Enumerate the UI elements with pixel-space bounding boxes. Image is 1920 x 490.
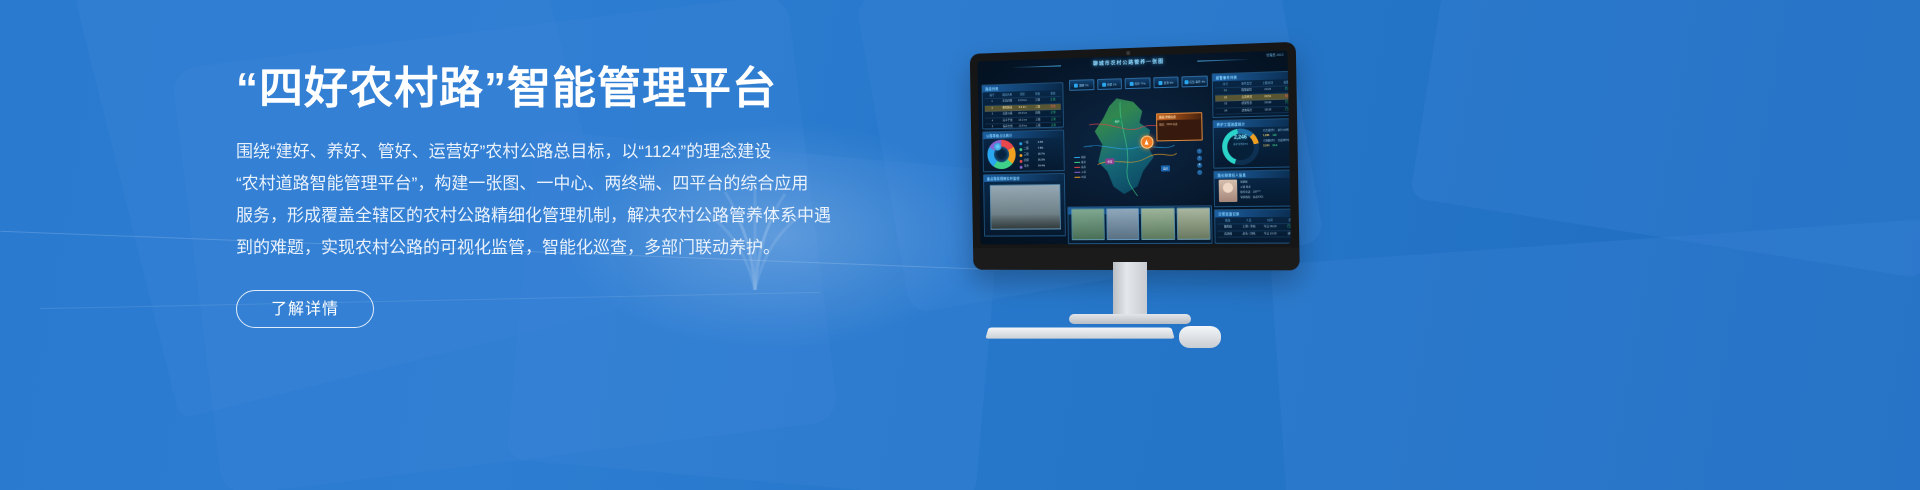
panel-grade-stats: 公路等级占比统计 一级 2.6% 二级 7.8% 三级 [982, 130, 1064, 173]
panel-patrol: 日常巡查记录 路段 人员 时间 结果 聊阳线 王明 / 李响 [1214, 208, 1291, 243]
map-roads [1075, 93, 1179, 199]
map-tools: + ≡ ◉ ↔ [1197, 149, 1208, 178]
learn-more-button[interactable]: 了解详情 [236, 290, 374, 328]
table-row[interactable]: 04 边坡塌方 08:36 已处理 [1215, 106, 1291, 115]
monitor-stand-neck [1113, 262, 1147, 318]
locate-icon[interactable]: ◉ [1197, 163, 1202, 168]
thumbnail[interactable] [1071, 208, 1104, 240]
dashboard-filter-button[interactable]: 桥梁 1% [1097, 78, 1122, 90]
donut-legend: 一级 2.6% 二级 7.8% 三级 18.7% 四级 36.5% [1019, 140, 1045, 170]
panel-title: 重点路段视频实时监控 [984, 174, 1064, 182]
road-list-rows: 编号 路段名称 里程 等级 状态 1 东昌府路 12.6 km 三级 [983, 90, 1064, 132]
avatar [1219, 180, 1238, 203]
mouse [1179, 326, 1221, 348]
description-line: 服务，形成覆盖全辖区的农村公路精细化管理机制，解决农村公路管养体系中遇 [236, 200, 856, 232]
panel-title: 路长制责任人信息 [1214, 170, 1291, 178]
description-line: 到的难题，实现农村公路的可视化监管，智能化巡查，多部门联动养护。 [236, 232, 856, 264]
dashboard-filter-button[interactable]: 巡查 5% [1153, 76, 1179, 88]
panel-alarm-list: 报警事件列表 序号 事件类型 上报时间 处理状态 01 路面破损 [1212, 70, 1291, 118]
description-line: “农村道路智能管理平台”，构建一张图、一中心、两终端、四平台的综合应用 [236, 168, 856, 200]
kpi-values: 2,214 84.6 [1263, 143, 1291, 149]
banner-copy: “四好农村路”智能管理平台 围绕“建好、养好、管好、运营好”农村公路总目标，以“… [236, 60, 856, 328]
panel-title: 公路等级占比统计 [983, 131, 1063, 140]
measure-icon[interactable]: ↔ [1197, 170, 1202, 175]
banner-description: 围绕“建好、养好、管好、运营好”农村公路总目标，以“1124”的理念建设 “农村… [236, 136, 856, 264]
thumbnail[interactable] [1141, 208, 1175, 240]
description-line: 围绕“建好、养好、管好、运营好”农村公路总目标，以“1124”的理念建设 [236, 136, 856, 168]
person-info: 张建国 乡级 路长 联系电话：138**** 管养路段：县道X201 [1240, 179, 1291, 200]
alarm-rows: 序号 事件类型 上报时间 处理状态 01 路面破损 10:24 已处理 [1213, 79, 1291, 116]
kpi-grid: 已完成(件) 进行中(件) 1,036 128 计划数(件) 完成率(%) [1263, 127, 1291, 148]
panel-video-monitor: 重点路段视频实时监控 [983, 173, 1066, 237]
callout-text: 路段：X201 村道 [1159, 121, 1199, 126]
patrol-icon [1159, 80, 1163, 84]
maintenance-icon [1130, 81, 1134, 85]
map-pin-bridge[interactable]: 桥梁 [1105, 158, 1114, 164]
alert-icon [1184, 80, 1188, 84]
monitor-illustration: 聊城市农村公路管养一张图 管理员 2023 路网 7% 桥梁 1% [965, 48, 1295, 358]
donut-chart [987, 139, 1016, 169]
panel-maintenance: 养护工程进度统计 2,246 养护里程(km) 已完成(件) 进行中(件) 1,… [1213, 118, 1291, 169]
monitor-screen: 聊城市农村公路管养一张图 管理员 2023 路网 7% 桥梁 1% [977, 50, 1291, 244]
patrol-rows: 路段 人员 时间 结果 聊阳线 王明 / 李响 今日 09:20 已完成 [1215, 217, 1291, 239]
map-pin-camera[interactable]: 监控 [1161, 165, 1170, 171]
person-area: 管养路段：县道X201 [1240, 194, 1291, 200]
dashboard-filter-button[interactable]: 养护 77% [1125, 77, 1151, 89]
table-row[interactable]: 高唐线 赵东 / 刘伟 今日 10:05 进行中 [1218, 231, 1291, 238]
thumbnail-strip [1071, 207, 1210, 240]
dashboard-top-buttons: 路网 7% 桥梁 1% 养护 77% 巡查 5% [1069, 76, 1208, 91]
thumbnail[interactable] [1106, 208, 1140, 240]
map-view[interactable]: 养护 桥梁 监控 路段详情信息 路段：X201 村道 国道 省道 [1069, 90, 1210, 203]
dashboard-filter-button[interactable]: 应急 事件 4% [1182, 76, 1208, 88]
map-pin-maintenance[interactable]: 养护 [1113, 118, 1122, 124]
map-legend: 国道 省道 县道 乡道 村道 [1074, 155, 1096, 180]
page-title: “四好农村路”智能管理平台 [236, 60, 856, 118]
bridge-icon [1102, 82, 1106, 86]
legend-item: 等外 34.4% [1020, 163, 1045, 169]
hero-banner: “四好农村路”智能管理平台 围绕“建好、养好、管好、运营好”农村公路总目标，以“… [0, 0, 1920, 490]
map-callout: 路段详情信息 路段：X201 村道 [1156, 112, 1203, 141]
keyboard [985, 328, 1174, 339]
thumbnail[interactable] [1176, 207, 1210, 240]
panel-road-list: 路段列表 编号 路段名称 里程 等级 状态 1 东昌府路 [982, 82, 1065, 129]
bg-shape-6 [1410, 0, 1920, 279]
zoom-in-icon[interactable]: + [1197, 149, 1202, 154]
road-icon [1074, 83, 1078, 87]
video-feed[interactable] [990, 184, 1061, 230]
imac-body: 聊城市农村公路管养一张图 管理员 2023 路网 7% 桥梁 1% [970, 42, 1300, 271]
dashboard-status: 管理员 2023 [1266, 53, 1283, 58]
callout-title: 路段详情信息 [1157, 113, 1201, 120]
gauge-value: 2,246 [1222, 134, 1259, 141]
dashboard: 聊城市农村公路管养一张图 管理员 2023 路网 7% 桥梁 1% [977, 50, 1291, 244]
dashboard-filter-button[interactable]: 路网 7% [1069, 79, 1094, 91]
legend-item: 村道 [1075, 175, 1096, 180]
layers-icon[interactable]: ≡ [1197, 156, 1202, 161]
panel-person: 路长制责任人信息 张建国 乡级 路长 联系电话：138**** 管养路段：县道X… [1213, 169, 1291, 207]
dashboard-title: 聊城市农村公路管养一张图 [977, 53, 1287, 71]
gauge-sublabel: 养护里程(km) [1222, 141, 1259, 146]
monitor-stand-foot [1069, 314, 1191, 324]
